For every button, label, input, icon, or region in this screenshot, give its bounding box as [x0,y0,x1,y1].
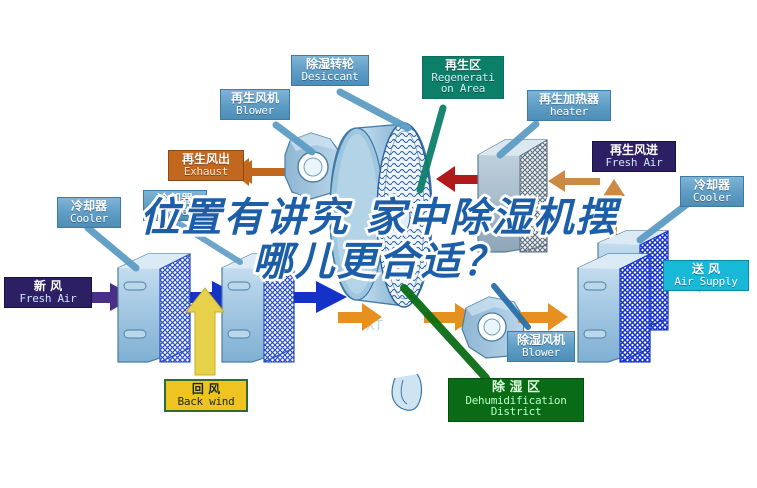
label-cn: 再生风出 [174,153,238,166]
schematic-artwork: XT [0,0,757,488]
label-cn: 除 湿 区 [454,381,578,395]
label-en: Fresh Air [10,293,86,305]
label-cn: 送 风 [669,263,743,276]
label-regeneration-heater[interactable]: 再生加热器 heater [527,90,611,121]
label-regeneration-area[interactable]: 再生区 Regenerati on Area [422,56,504,99]
label-cn: 除湿风机 [513,334,569,347]
label-cn: 再生区 [428,59,498,72]
label-air-supply[interactable]: 送 风 Air Supply [663,260,749,291]
label-en: Cooler [686,192,738,204]
label-regen-fresh-air-in[interactable]: 再生风进 Fresh Air [592,141,676,172]
desiccant-rotor: XT [330,123,432,410]
label-back-wind[interactable]: 回 风 Back wind [164,379,248,412]
label-en: Regenerati on Area [428,72,498,95]
label-cn: 再生风进 [598,144,670,157]
label-fresh-air-in[interactable]: 新 风 Fresh Air [4,277,92,308]
label-cn: 新 风 [10,280,86,293]
label-cn: 冷却器 [686,179,738,192]
label-cn: 冷却器 [63,200,115,213]
label-regeneration-blower[interactable]: 再生风机 Blower [220,89,290,120]
diagram-canvas: XT [0,0,757,488]
label-en: Blower [226,105,284,117]
label-en: Fresh Air [598,157,670,169]
cooler-mid [222,254,294,362]
label-cn: 回 风 [171,383,241,396]
cooler-left [118,254,190,362]
label-desiccant-wheel[interactable]: 除湿转轮 Desiccant [291,55,369,86]
label-cooler-right[interactable]: 冷却器 Cooler [680,176,744,207]
label-en: Cooler [63,213,115,225]
label-cn: 冷却器 [149,193,201,206]
label-cn: 再生风机 [226,92,284,105]
label-exhaust[interactable]: 再生风出 Exhaust [168,150,244,181]
label-en: Back wind [171,396,241,408]
label-dehumidification-blower[interactable]: 除湿风机 Blower [507,331,575,362]
label-cn: 除湿转轮 [297,58,363,71]
label-en: Dehumidification District [454,395,578,418]
label-dehumidification-district[interactable]: 除 湿 区 Dehumidification District [448,378,584,422]
regeneration-heater [478,140,547,252]
label-en: Air Supply [669,276,743,288]
label-en: Cooler [149,206,201,218]
cooler-supply [578,254,650,362]
label-cn: 再生加热器 [533,93,605,106]
regen-inlet-arrow [548,170,600,192]
label-en: Desiccant [297,71,363,83]
label-cooler-left[interactable]: 冷却器 Cooler [57,197,121,228]
label-en: Exhaust [174,166,238,178]
label-en: Blower [513,347,569,359]
process-arrow-2 [294,281,347,313]
label-cooler-mid[interactable]: 冷却器 Cooler [143,190,207,221]
label-en: heater [533,106,605,118]
